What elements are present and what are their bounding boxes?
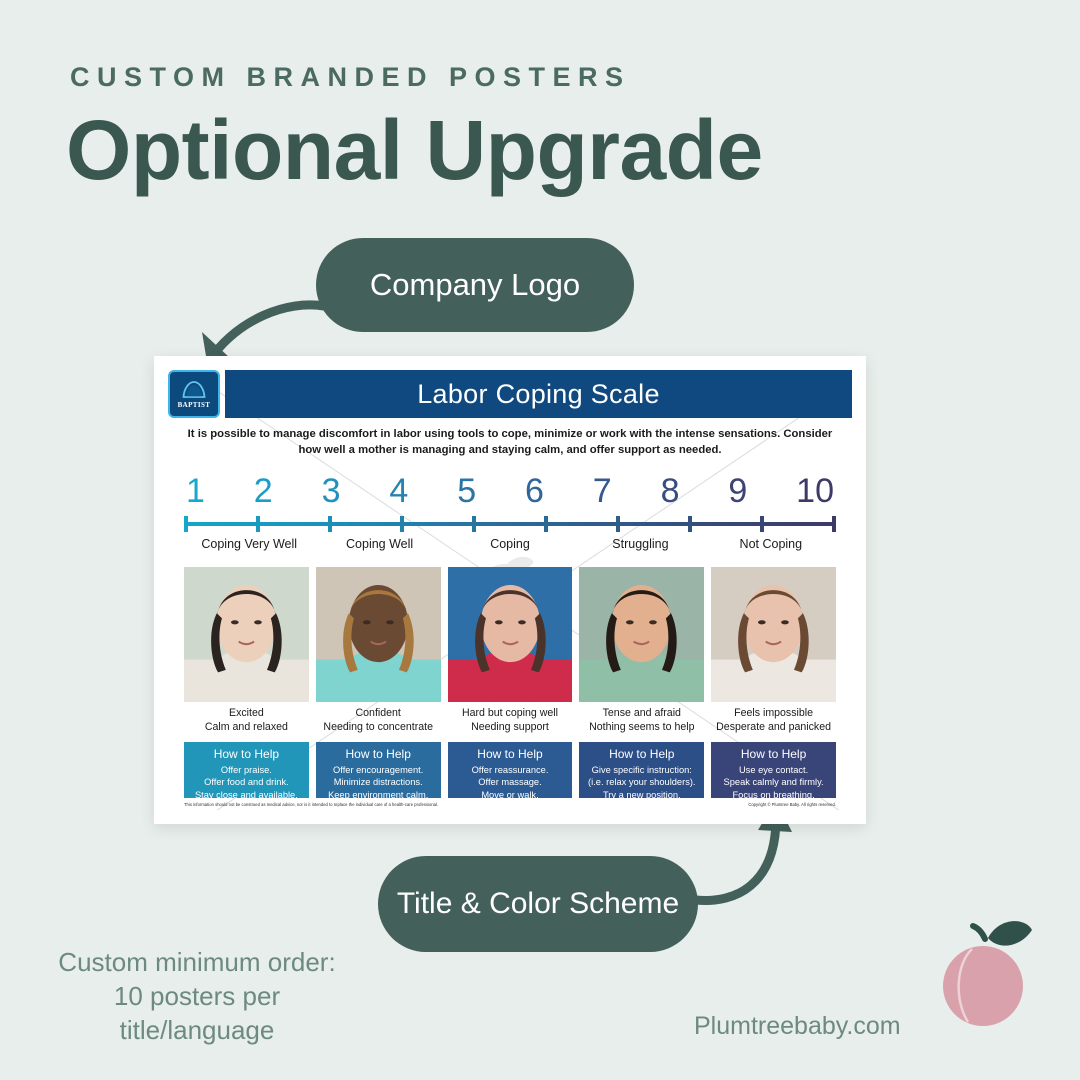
- woman-red-top-leaning-photo: [448, 567, 573, 702]
- scale-label: Struggling: [575, 537, 705, 551]
- how-to-help-lines: Give specific instruction:(i.e. relax yo…: [579, 764, 704, 801]
- poster-header-row: BAPTIST Labor Coping Scale: [168, 370, 852, 418]
- scale-number-9: 9: [728, 474, 747, 508]
- how-to-help-line: Minimize distractions.: [316, 776, 441, 788]
- scale-label: Coping Very Well: [184, 537, 314, 551]
- photo-caption: Tense and afraidNothing seems to help: [579, 707, 704, 735]
- scale-tick-1: [184, 516, 188, 532]
- callout-title-color-scheme-label: Title & Color Scheme: [397, 885, 679, 923]
- callout-company-logo: Company Logo: [316, 238, 634, 332]
- website-url[interactable]: Plumtreebaby.com: [694, 1012, 901, 1041]
- photo-row: [184, 567, 836, 702]
- poster-title-bar: Labor Coping Scale: [225, 370, 852, 418]
- how-to-help-line: Try a new position.: [579, 789, 704, 801]
- poster-fineprint: This information should not be construed…: [184, 802, 836, 807]
- how-to-help-title: How to Help: [448, 747, 573, 761]
- photo-caption: Feels impossibleDesperate and panicked: [711, 707, 836, 735]
- how-to-help-line: Offer praise.: [184, 764, 309, 776]
- caption-line-1: Hard but coping well: [448, 707, 573, 721]
- scale-tick-5: [472, 516, 476, 532]
- how-to-help-line: Focus on breathing.: [711, 789, 836, 801]
- scale-number-5: 5: [457, 474, 476, 508]
- scale-gradient-bar: [184, 522, 836, 526]
- how-to-help-title: How to Help: [316, 747, 441, 761]
- how-to-help-box: How to HelpOffer reassurance.Offer massa…: [448, 742, 573, 798]
- scale-numbers: 12345678910: [184, 474, 836, 508]
- how-to-help-title: How to Help: [711, 747, 836, 761]
- callout-company-logo-label: Company Logo: [370, 267, 580, 303]
- how-to-help-line: Move or walk.: [448, 789, 573, 801]
- caption-line-1: Confident: [316, 707, 441, 721]
- scale-number-2: 2: [254, 474, 273, 508]
- caption-line-2: Needing to concentrate: [316, 721, 441, 735]
- arch-logo-icon: [181, 380, 207, 400]
- how-to-help-line: Use eye contact.: [711, 764, 836, 776]
- photo-caption: ExcitedCalm and relaxed: [184, 707, 309, 735]
- how-to-help-lines: Offer encouragement.Minimize distraction…: [316, 764, 441, 801]
- brand-badge-label: BAPTIST: [178, 401, 211, 409]
- how-to-help-line: Stay close and available.: [184, 789, 309, 801]
- how-to-help-box: How to HelpGive specific instruction:(i.…: [579, 742, 704, 798]
- disclaimer-text: This information should not be construed…: [184, 802, 438, 807]
- scale-tick-2: [256, 516, 260, 532]
- how-to-help-row: How to HelpOffer praise.Offer food and d…: [184, 742, 836, 798]
- woman-tense-grimacing-photo: [579, 567, 704, 702]
- how-to-help-line: Offer reassurance.: [448, 764, 573, 776]
- how-to-help-line: Keep environment calm.: [316, 789, 441, 801]
- poster-title: Labor Coping Scale: [417, 379, 660, 410]
- scale-number-3: 3: [322, 474, 341, 508]
- callout-title-color-scheme: Title & Color Scheme: [378, 856, 698, 952]
- caption-line-2: Nothing seems to help: [579, 721, 704, 735]
- scale-number-7: 7: [593, 474, 612, 508]
- scale-label: Coping: [445, 537, 575, 551]
- page-title: Optional Upgrade: [66, 106, 763, 195]
- how-to-help-box: How to HelpUse eye contact.Speak calmly …: [711, 742, 836, 798]
- how-to-help-line: Offer massage.: [448, 776, 573, 788]
- how-to-help-title: How to Help: [579, 747, 704, 761]
- order-minimum-note: Custom minimum order: 10 posters per tit…: [42, 946, 352, 1047]
- scale-tick-4: [400, 516, 404, 532]
- copyright-text: Copyright © Plumtree Baby. All rights re…: [748, 802, 836, 807]
- scale-tick-6: [544, 516, 548, 532]
- how-to-help-title: How to Help: [184, 747, 309, 761]
- scale-category-labels: Coping Very WellCoping WellCopingStruggl…: [184, 537, 836, 551]
- woman-braids-eyes-closed-photo: [316, 567, 441, 702]
- how-to-help-line: Give specific instruction:: [579, 764, 704, 776]
- caption-line-1: Feels impossible: [711, 707, 836, 721]
- scale-tick-10: [832, 516, 836, 532]
- caption-line-1: Tense and afraid: [579, 707, 704, 721]
- brand-badge[interactable]: BAPTIST: [168, 370, 220, 418]
- scale-number-8: 8: [661, 474, 680, 508]
- caption-line-2: Desperate and panicked: [711, 721, 836, 735]
- coping-scale: 12345678910 Coping Very WellCoping WellC…: [184, 474, 836, 551]
- how-to-help-lines: Offer praise.Offer food and drink.Stay c…: [184, 764, 309, 801]
- scale-label: Coping Well: [314, 537, 444, 551]
- scale-tick-8: [688, 516, 692, 532]
- eyebrow-text: CUSTOM BRANDED POSTERS: [70, 62, 631, 93]
- caption-line-1: Excited: [184, 707, 309, 721]
- caption-line-2: Needing support: [448, 721, 573, 735]
- photo-caption: Hard but coping wellNeeding support: [448, 707, 573, 735]
- scale-tick-3: [328, 516, 332, 532]
- scale-number-10: 10: [796, 474, 834, 508]
- scale-number-1: 1: [186, 474, 205, 508]
- poster-card[interactable]: BAPTIST Labor Coping Scale It is possibl…: [154, 356, 866, 824]
- scale-tick-9: [760, 516, 764, 532]
- how-to-help-lines: Offer reassurance.Offer massage.Move or …: [448, 764, 573, 801]
- scale-tick-7: [616, 516, 620, 532]
- how-to-help-box: How to HelpOffer encouragement.Minimize …: [316, 742, 441, 798]
- scale-label: Not Coping: [706, 537, 836, 551]
- photo-caption: ConfidentNeeding to concentrate: [316, 707, 441, 735]
- caption-line-2: Calm and relaxed: [184, 721, 309, 735]
- how-to-help-lines: Use eye contact.Speak calmly and firmly.…: [711, 764, 836, 801]
- how-to-help-line: Speak calmly and firmly.: [711, 776, 836, 788]
- how-to-help-box: How to HelpOffer praise.Offer food and d…: [184, 742, 309, 798]
- scale-number-4: 4: [389, 474, 408, 508]
- how-to-help-line: Offer food and drink.: [184, 776, 309, 788]
- how-to-help-line: (i.e. relax your shoulders).: [579, 776, 704, 788]
- woman-calm-smiling-photo: [184, 567, 309, 702]
- scale-number-6: 6: [525, 474, 544, 508]
- woman-panicked-holding-belly-photo: [711, 567, 836, 702]
- how-to-help-line: Offer encouragement.: [316, 764, 441, 776]
- peach-logo-icon: [928, 908, 1038, 1028]
- poster-intro-text: It is possible to manage discomfort in l…: [178, 426, 842, 458]
- scale-line: [184, 516, 836, 532]
- caption-row: ExcitedCalm and relaxedConfidentNeeding …: [184, 707, 836, 735]
